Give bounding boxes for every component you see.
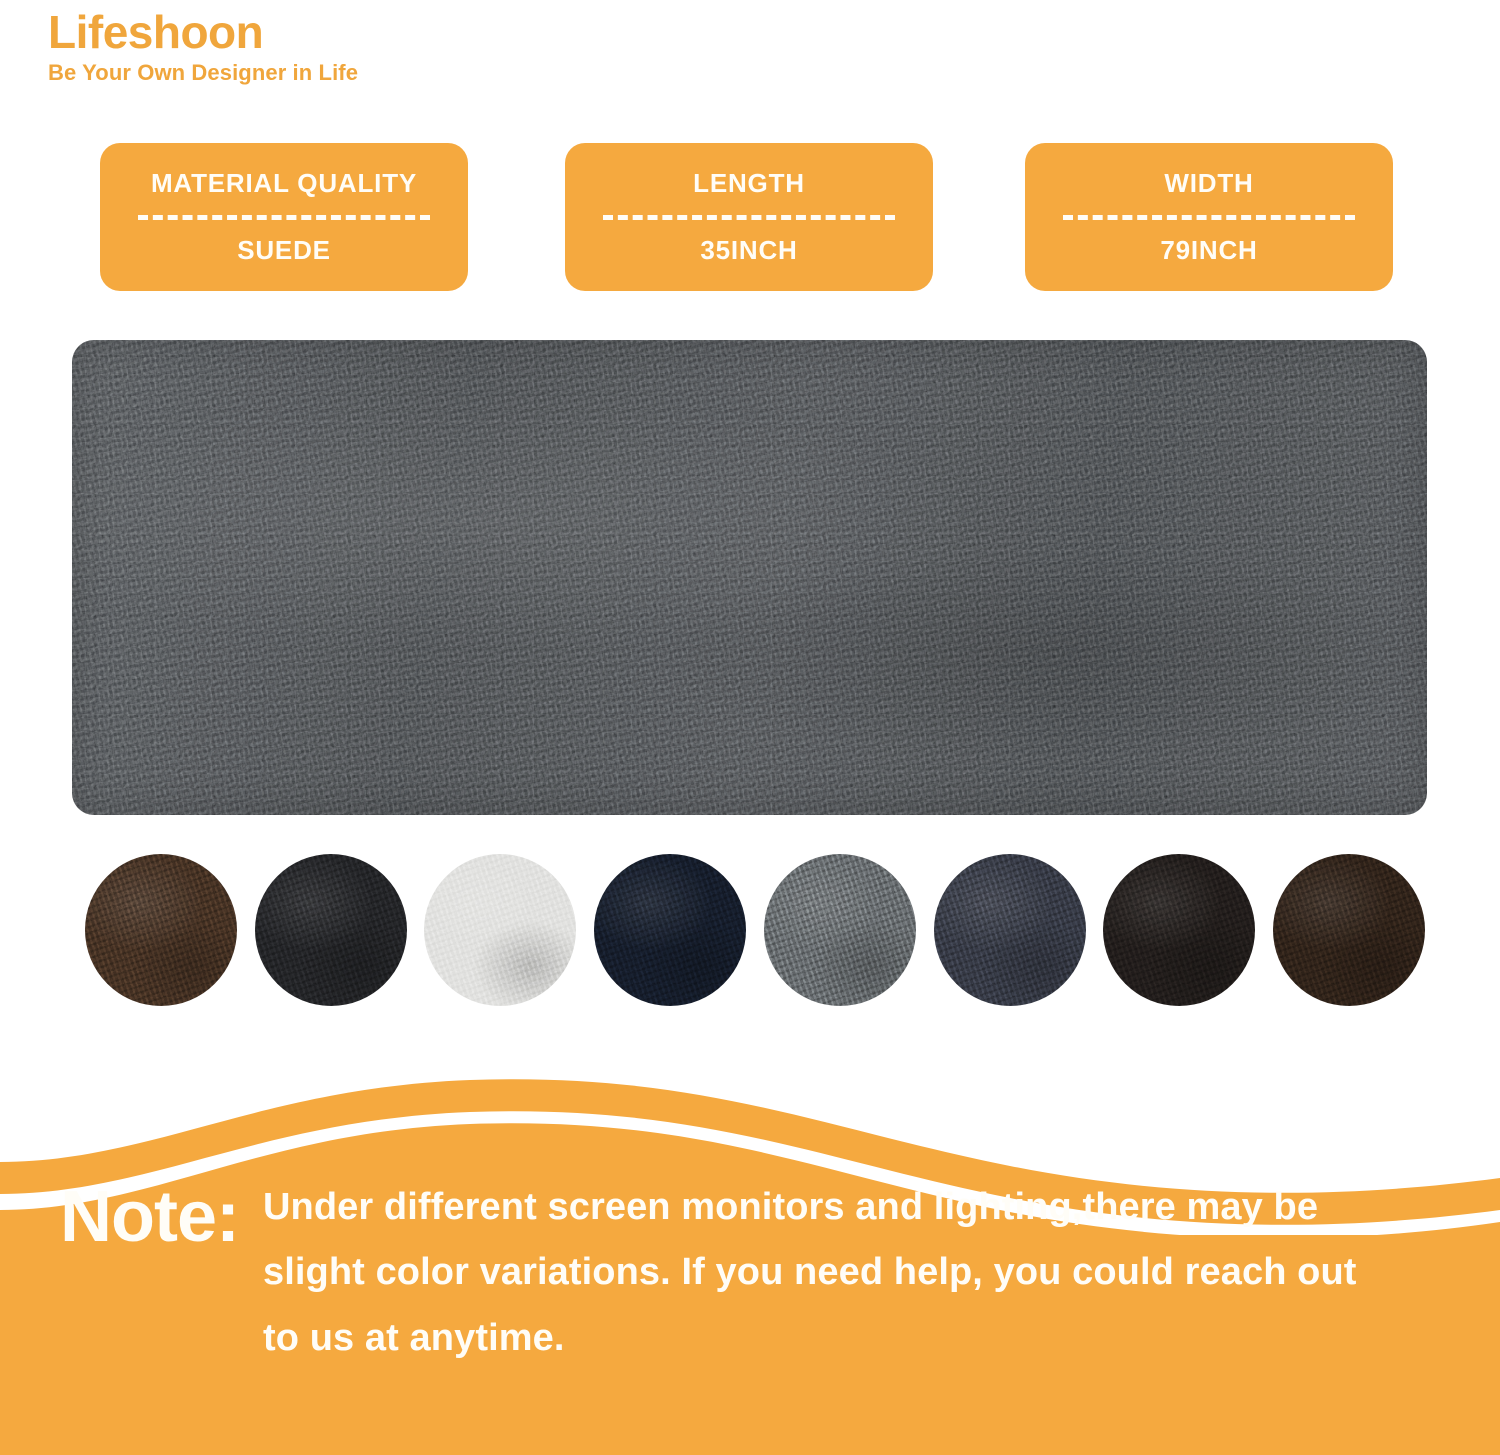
note-title: Note: [60, 1181, 239, 1253]
swatch-shading [1103, 854, 1255, 1006]
product-infographic: Lifeshoon Be Your Own Designer in Life M… [0, 0, 1500, 1455]
spec-badge-length: LENGTH 35INCH [565, 143, 933, 291]
color-swatch-slate-gray[interactable] [934, 854, 1086, 1006]
rug-sheen-overlay [72, 340, 1427, 815]
spec-value: 79INCH [1160, 235, 1257, 266]
dashed-divider [603, 215, 895, 220]
swatch-shading [934, 854, 1086, 1006]
dashed-divider [1063, 215, 1355, 220]
color-swatch-cream-white[interactable] [424, 854, 576, 1006]
brand-tagline: Be Your Own Designer in Life [48, 60, 358, 86]
note-body-text: Under different screen monitors and ligh… [263, 1175, 1393, 1371]
note-content: Note: Under different screen monitors an… [0, 1175, 1500, 1371]
dashed-divider [138, 215, 430, 220]
color-swatch-charcoal-black[interactable] [255, 854, 407, 1006]
note-panel: Note: Under different screen monitors an… [0, 1070, 1500, 1455]
swatch-shading [594, 854, 746, 1006]
color-swatch-dark-brown[interactable] [85, 854, 237, 1006]
spec-label: WIDTH [1164, 168, 1253, 199]
swatch-shading [424, 854, 576, 1006]
product-photo-rug [72, 340, 1427, 815]
spec-value: 35INCH [700, 235, 797, 266]
color-swatch-deep-charcoal[interactable] [1103, 854, 1255, 1006]
brand-name: Lifeshoon [48, 8, 358, 56]
color-swatch-navy-blue[interactable] [594, 854, 746, 1006]
brand-header: Lifeshoon Be Your Own Designer in Life [48, 8, 358, 86]
swatch-shading [255, 854, 407, 1006]
swatch-shading [85, 854, 237, 1006]
spec-badge-width: WIDTH 79INCH [1025, 143, 1393, 291]
swatch-shading [764, 854, 916, 1006]
color-swatch-chocolate-brown[interactable] [1273, 854, 1425, 1006]
spec-badge-material-quality: MATERIAL QUALITY SUEDE [100, 143, 468, 291]
swatch-shading [1273, 854, 1425, 1006]
spec-badge-row: MATERIAL QUALITY SUEDE LENGTH 35INCH WID… [100, 143, 1400, 291]
color-swatch-row [85, 850, 1425, 1010]
spec-label: MATERIAL QUALITY [151, 168, 417, 199]
color-swatch-medium-gray[interactable] [764, 854, 916, 1006]
spec-value: SUEDE [237, 235, 331, 266]
spec-label: LENGTH [693, 168, 805, 199]
